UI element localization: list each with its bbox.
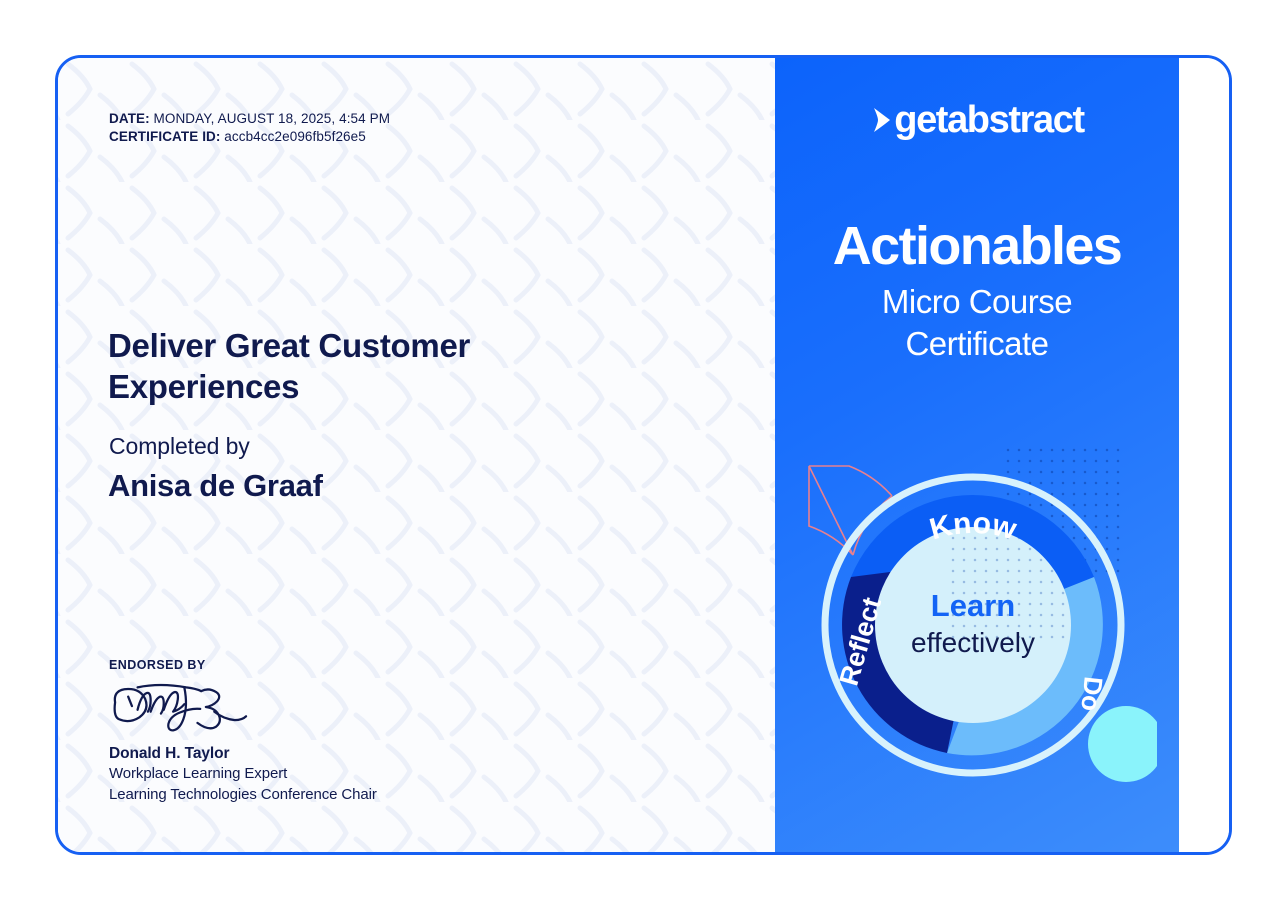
certificate-date-value: MONDAY, AUGUST 18, 2025, 4:54 PM	[154, 111, 391, 126]
certificate-date-label: DATE:	[109, 111, 150, 126]
right-white-gutter	[1179, 58, 1232, 852]
headline-main: Actionables	[775, 218, 1179, 275]
endorsed-by-label: ENDORSED BY	[109, 658, 377, 672]
certificate-card: DATE: MONDAY, AUGUST 18, 2025, 4:54 PM C…	[55, 55, 1232, 855]
certificate-meta: DATE: MONDAY, AUGUST 18, 2025, 4:54 PM C…	[109, 110, 390, 146]
course-title: Deliver Great Customer Experiences	[108, 326, 558, 407]
certificate-date-row: DATE: MONDAY, AUGUST 18, 2025, 4:54 PM	[109, 110, 390, 128]
certificate-right-pane: getabstract Actionables Micro Course Cer…	[775, 58, 1179, 852]
endorser-name: Donald H. Taylor	[109, 745, 377, 763]
endorser-role-line-2: Learning Technologies Conference Chair	[109, 784, 377, 805]
headline-sub-line-1: Micro Course	[775, 281, 1179, 323]
learn-cycle-diagram: Know Do Reflect Learn effectively	[797, 448, 1157, 798]
headline-block: Actionables Micro Course Certificate	[775, 218, 1179, 365]
certificate-screenshot: DATE: MONDAY, AUGUST 18, 2025, 4:54 PM C…	[0, 0, 1286, 909]
certificate-left-pane: DATE: MONDAY, AUGUST 18, 2025, 4:54 PM C…	[58, 58, 775, 852]
chevron-mark-icon	[870, 102, 892, 138]
endorsement-block: ENDORSED BY Donald H. Taylor	[109, 658, 377, 806]
center-primary-label: Learn	[931, 588, 1015, 623]
cyan-accent-circle	[1088, 706, 1157, 782]
headline-sub-line-2: Certificate	[775, 323, 1179, 365]
recipient-name: Anisa de Graaf	[108, 468, 323, 504]
endorser-role-line-1: Workplace Learning Expert	[109, 763, 377, 784]
segment-do-label: Do	[1075, 675, 1108, 713]
center-secondary-label: effectively	[911, 627, 1035, 658]
certificate-id-row: CERTIFICATE ID: accb4cc2e096fb5f26e5	[109, 128, 390, 146]
getabstract-wordmark: getabstract	[894, 101, 1083, 139]
certificate-id-value: accb4cc2e096fb5f26e5	[224, 129, 366, 144]
signature-icon	[109, 678, 269, 736]
certificate-id-label: CERTIFICATE ID:	[109, 129, 221, 144]
completed-by-label: Completed by	[109, 433, 250, 460]
getabstract-logo: getabstract	[775, 101, 1179, 139]
